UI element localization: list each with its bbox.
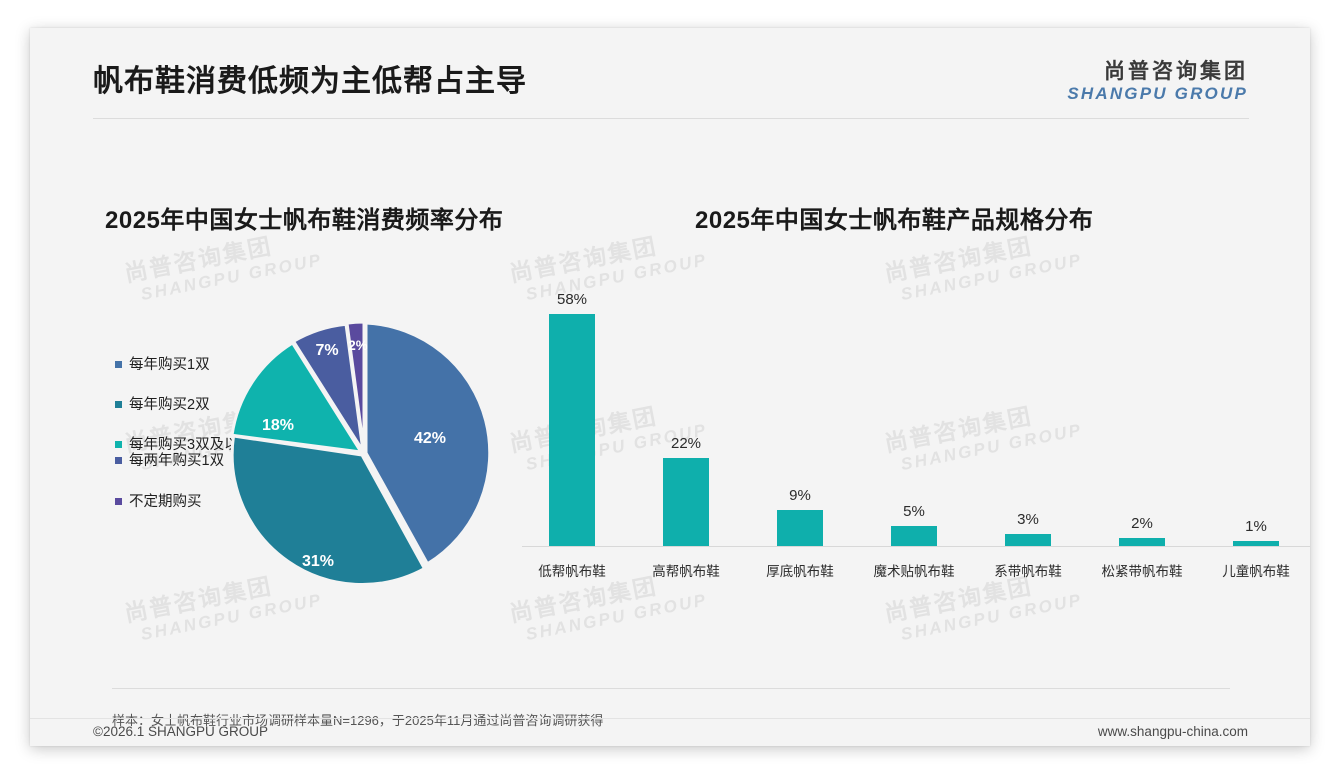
bar-column[interactable]: 5% xyxy=(862,503,966,546)
footer-copyright: ©2026.1 SHANGPU GROUP xyxy=(93,724,268,739)
legend-swatch-icon xyxy=(115,498,122,505)
bar-category-label: 高帮帆布鞋 xyxy=(634,560,738,580)
bar-column[interactable]: 2% xyxy=(1090,515,1194,546)
bar-column[interactable]: 3% xyxy=(976,511,1080,546)
bar-column[interactable]: 1% xyxy=(1204,518,1308,546)
legend-swatch-icon xyxy=(115,401,122,408)
brand-logo-cn: 尚普咨询集团 xyxy=(1067,60,1248,84)
bar-plot-area: 58% 22% 9% 5% 3% 2% xyxy=(520,288,1280,546)
legend-item-label: 每两年购买1双 xyxy=(129,452,224,470)
bar-value-label: 3% xyxy=(976,511,1080,528)
legend-item-label: 不定期购买 xyxy=(129,493,202,511)
bar-value-label: 58% xyxy=(520,291,624,308)
bar-column[interactable]: 9% xyxy=(748,487,852,546)
bar-chart-panel: 58% 22% 9% 5% 3% 2% xyxy=(500,278,1290,608)
footer-website[interactable]: www.shangpu-china.com xyxy=(1098,724,1248,739)
bar-value-label: 22% xyxy=(634,435,738,452)
legend-swatch-icon xyxy=(115,457,122,464)
legend-swatch-icon xyxy=(115,441,122,448)
legend-item-label: 每年购买1双 xyxy=(129,356,210,374)
pie-chart-graphic: 42% 31% 18% 7% 2% xyxy=(218,308,508,598)
bar-column[interactable]: 22% xyxy=(634,435,738,546)
bar-category-label: 系带帆布鞋 xyxy=(976,560,1080,580)
bar-rect[interactable] xyxy=(1005,534,1051,546)
bar-axis-line xyxy=(522,546,1310,547)
legend-item-label: 每年购买2双 xyxy=(129,396,210,414)
bar-category-label: 儿童帆布鞋 xyxy=(1204,560,1308,580)
bar-value-label: 5% xyxy=(862,503,966,520)
brand-logo: 尚普咨询集团 SHANGPU GROUP xyxy=(1067,60,1248,104)
pie-chart-panel: 每年购买1双 每年购买2双 每年购买3双及以上 每两年购买1双 不定期购买 xyxy=(70,278,540,628)
bar-chart-title: 2025年中国女士帆布鞋产品规格分布 xyxy=(695,200,1093,235)
pie-value-label: 31% xyxy=(302,553,334,570)
bar-category-label: 低帮帆布鞋 xyxy=(520,560,624,580)
bar-rect[interactable] xyxy=(891,526,937,546)
pie-value-label: 2% xyxy=(348,338,368,353)
slide-canvas: 尚普咨询集团 SHANGPU GROUP 尚普咨询集团 SHANGPU GROU… xyxy=(30,28,1310,746)
bar-rect[interactable] xyxy=(549,314,595,546)
slide-footer: ©2026.1 SHANGPU GROUP www.shangpu-china.… xyxy=(30,719,1310,746)
brand-logo-en: SHANGPU GROUP xyxy=(1067,84,1248,104)
pie-value-label: 7% xyxy=(315,342,338,359)
bar-category-label: 松紧带帆布鞋 xyxy=(1090,560,1194,580)
slide-header: 帆布鞋消费低频为主低帮占主导 尚普咨询集团 SHANGPU GROUP xyxy=(30,28,1310,120)
bar-category-label: 魔术贴帆布鞋 xyxy=(862,560,966,580)
bar-column[interactable]: 58% xyxy=(520,291,624,546)
bar-rect[interactable] xyxy=(663,458,709,546)
bar-value-label: 1% xyxy=(1204,518,1308,535)
pie-value-label: 18% xyxy=(262,417,294,434)
pie-chart-title: 2025年中国女士帆布鞋消费频率分布 xyxy=(105,200,503,235)
page-title: 帆布鞋消费低频为主低帮占主导 xyxy=(93,56,527,100)
bar-value-label: 2% xyxy=(1090,515,1194,532)
bar-rect[interactable] xyxy=(1119,538,1165,546)
header-divider xyxy=(93,118,1249,119)
bar-rect[interactable] xyxy=(777,510,823,546)
bar-category-label: 厚底帆布鞋 xyxy=(748,560,852,580)
bar-value-label: 9% xyxy=(748,487,852,504)
pie-value-label: 42% xyxy=(414,430,446,447)
footnote-divider xyxy=(112,688,1230,689)
legend-swatch-icon xyxy=(115,361,122,368)
